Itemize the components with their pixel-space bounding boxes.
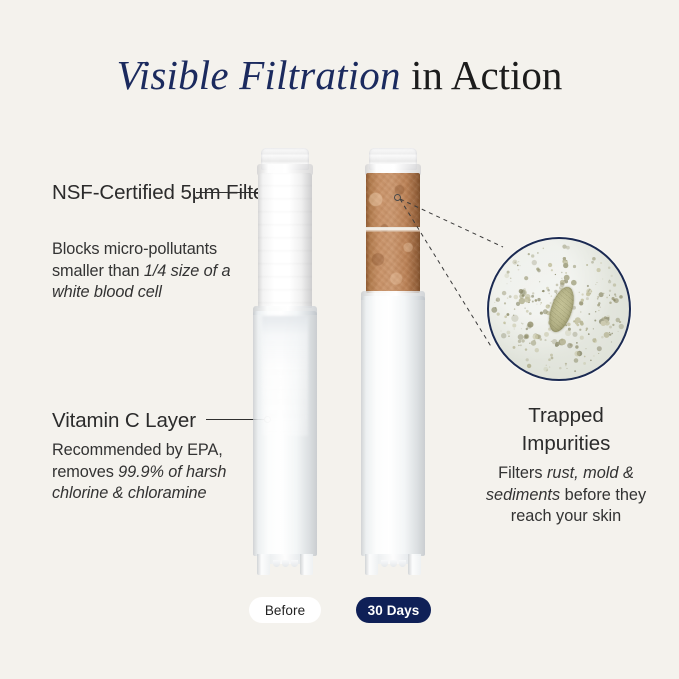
callout-trapped-body: Filters rust, mold & sediments before th… [470,463,662,528]
badge-30-days[interactable]: 30 Days [356,597,431,623]
fan-line-top [400,199,503,247]
callout-trapped-heading-line1: Trapped [466,402,666,430]
fan-line-bottom [400,199,492,348]
badge-before[interactable]: Before [249,597,321,623]
magnify-origin-dot-icon [394,194,401,201]
callout-trapped-heading-line2: Impurities [466,430,666,458]
badge-before-label: Before [265,603,305,618]
infographic-canvas: Visible Filtration in Action NSF-Certifi… [0,0,679,679]
callout-trapped-heading: Trapped Impurities [466,402,666,458]
callout-trapped-body-prefix: Filters [498,464,547,482]
badge-30-days-label: 30 Days [368,603,420,618]
magnified-impurities-view [487,237,631,381]
